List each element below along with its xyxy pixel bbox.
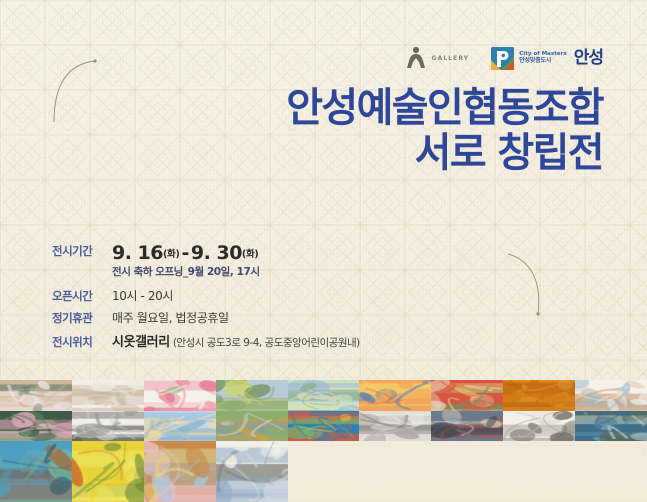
gallery-figure-mark xyxy=(405,46,427,70)
gallery-logo: GALLERY xyxy=(405,46,470,70)
city-wordmark: City of Masters 안성맞춤도시 xyxy=(519,52,567,64)
bird-among-leaves xyxy=(288,380,360,411)
peony-flower-painting xyxy=(144,380,216,411)
yellow-dotted-pattern xyxy=(72,441,144,502)
lotus-flower-painting xyxy=(0,411,72,442)
city-korean-sub: 안성맞춤도시 xyxy=(519,58,567,64)
artwork-tile xyxy=(575,380,647,411)
artwork-tile xyxy=(359,380,431,411)
artwork-tile xyxy=(216,411,288,442)
closed-value: 매주 월요일, 법정공휴일 xyxy=(112,309,229,326)
hours-label: 오픈시간 xyxy=(52,288,112,304)
detail-row-place: 전시위치 시옷갤러리 (안성시 공도3로 9-4, 공도중앙어린이공원내) xyxy=(52,331,482,350)
anseong-city-emblem xyxy=(491,47,514,70)
detail-row-hours: 오픈시간 10시 - 20시 xyxy=(52,287,482,304)
artwork-tile xyxy=(431,380,503,411)
seaside-blue-landscape xyxy=(0,441,72,502)
period-start-date: 9. 16 xyxy=(112,242,163,264)
artwork-tile xyxy=(144,411,216,442)
closed-label: 정기휴관 xyxy=(52,310,112,326)
place-address: (안성시 공도3로 9-4, 공도중앙어린이공원내) xyxy=(173,335,360,350)
vertical-calligraphy xyxy=(503,411,575,442)
sunflower-ink-drawing xyxy=(72,411,144,442)
garden-fence-painting xyxy=(216,411,288,442)
artwork-tile xyxy=(575,411,647,442)
orange-abstract xyxy=(503,380,575,411)
watercolor-calligraphy xyxy=(144,411,216,442)
artwork-tile xyxy=(144,441,216,502)
artwork-tile xyxy=(359,411,431,442)
period-end-day: (화) xyxy=(242,249,259,260)
detail-row-closed: 정기휴관 매주 월요일, 법정공휴일 xyxy=(52,309,482,326)
cherry-blossom-still xyxy=(144,441,216,502)
street-scene-figures xyxy=(431,411,503,442)
page-title: 안성예술인협동조합 서로 창립전 xyxy=(286,86,603,176)
folk-pattern-collage xyxy=(431,380,503,411)
artwork-tile xyxy=(72,411,144,442)
artwork-tile xyxy=(0,380,72,411)
artwork-tile xyxy=(431,411,503,442)
detail-row-period: 전시기간 9. 16(화)-9. 30(화) xyxy=(52,244,482,263)
city-korean-name: 안성 xyxy=(574,50,603,67)
hours-value: 10시 - 20시 xyxy=(112,287,173,304)
artwork-tile xyxy=(503,411,575,442)
artwork-tile xyxy=(72,380,144,411)
line-drawing-figure xyxy=(72,380,144,411)
artwork-tile xyxy=(72,441,144,502)
opening-note: 전시 축하 오프닝_9월 20일, 17시 xyxy=(112,264,482,279)
period-label: 전시기간 xyxy=(52,243,112,259)
plum-blossom-painting xyxy=(0,380,72,411)
blue-mask-folk-art xyxy=(288,411,360,442)
period-dash: - xyxy=(182,242,189,264)
exhibition-poster: GALLERY City of Masters 안성맞춤도시 안성 안성예술인협… xyxy=(0,0,647,502)
artwork-tile xyxy=(288,380,360,411)
title-line-1: 안성예술인협동조합 xyxy=(286,85,603,131)
period-dates: 9. 16(화)-9. 30(화) xyxy=(112,244,258,263)
artwork-tile xyxy=(288,411,360,442)
artwork-strip xyxy=(0,380,647,502)
place-label: 전시위치 xyxy=(52,334,112,350)
rice-field-landscape xyxy=(216,380,288,411)
gallery-wordmark: GALLERY xyxy=(432,55,470,62)
artwork-tile xyxy=(503,380,575,411)
artwork-tile xyxy=(216,441,288,502)
period-end-date: 9. 30 xyxy=(191,242,242,264)
anseong-city-logo: City of Masters 안성맞춤도시 안성 xyxy=(491,47,603,70)
artwork-tile xyxy=(0,441,72,502)
artwork-tile xyxy=(144,380,216,411)
logo-row: GALLERY City of Masters 안성맞춤도시 안성 xyxy=(405,46,603,70)
exhibition-details: 전시기간 9. 16(화)-9. 30(화) 전시 축하 오프닝_9월 20일,… xyxy=(52,244,482,354)
rabbit-in-hanbok xyxy=(575,380,647,411)
period-start-day: (화) xyxy=(163,249,180,260)
artwork-tile xyxy=(216,380,288,411)
rocky-coast-painting xyxy=(575,411,647,442)
pencil-sketch-gray xyxy=(359,411,431,442)
mountain-calligraphy xyxy=(216,441,288,502)
place-value: 시옷갤러리 xyxy=(112,331,170,350)
artwork-tile xyxy=(0,411,72,442)
sunset-seascape xyxy=(359,380,431,411)
title-line-2: 서로 창립전 xyxy=(286,131,603,176)
